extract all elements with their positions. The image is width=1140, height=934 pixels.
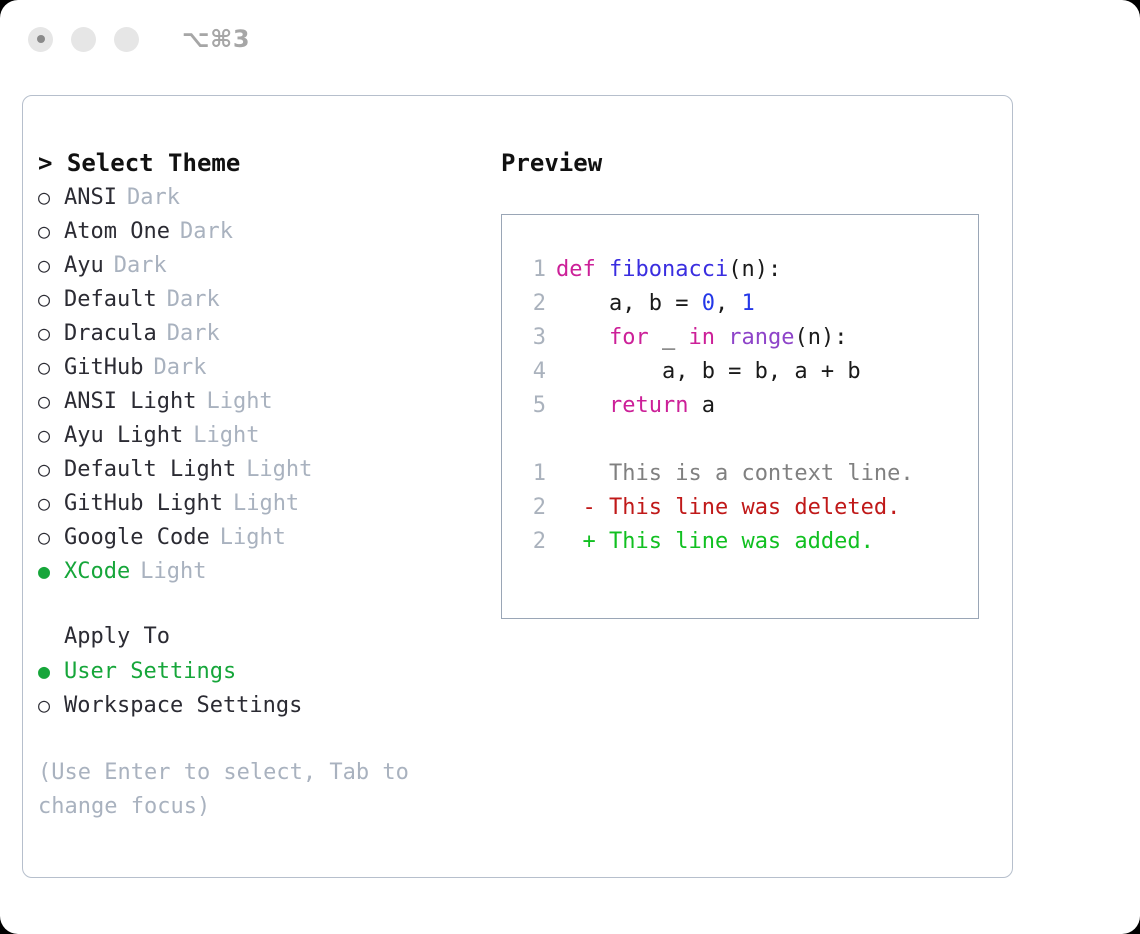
theme-list-item[interactable]: ○GitHub LightLight xyxy=(38,486,488,520)
theme-list-item[interactable]: ○DraculaDark xyxy=(38,316,488,350)
theme-list-item[interactable]: ○ANSI LightLight xyxy=(38,384,488,418)
theme-name: ANSI xyxy=(64,181,117,215)
theme-list-item[interactable]: ○AyuDark xyxy=(38,248,488,282)
theme-name: Ayu Light xyxy=(64,419,183,453)
code-token: for xyxy=(609,325,649,350)
diff-sample: 1 This is a context line.2 - This line w… xyxy=(518,457,978,559)
theme-kind-badge: Light xyxy=(140,555,206,589)
code-sample: 1def fibonacci(n):2 a, b = 0, 13 for _ i… xyxy=(518,253,978,423)
theme-kind-badge: Dark xyxy=(153,351,206,385)
theme-kind-badge: Dark xyxy=(167,283,220,317)
radio-unselected-icon: ○ xyxy=(38,282,64,316)
code-line: 2 a, b = 0, 1 xyxy=(518,287,978,321)
code-token xyxy=(715,325,728,350)
theme-kind-badge: Dark xyxy=(167,317,220,351)
line-number: 1 xyxy=(518,253,546,287)
code-token: 1 xyxy=(741,291,754,316)
window-control-maximize[interactable] xyxy=(114,27,139,52)
theme-name: Atom One xyxy=(64,215,170,249)
diff-sign: - xyxy=(556,495,596,520)
theme-list-item[interactable]: ○DefaultDark xyxy=(38,282,488,316)
code-token: in xyxy=(688,325,715,350)
apply-to-heading: Apply To xyxy=(38,620,488,654)
title-bar: ⌥⌘3 xyxy=(0,0,1140,78)
theme-name: Dracula xyxy=(64,317,157,351)
line-number: 2 xyxy=(518,491,546,525)
theme-name: Ayu xyxy=(64,249,104,283)
radio-unselected-icon: ○ xyxy=(38,214,64,248)
code-gap xyxy=(518,423,978,457)
theme-kind-badge: Dark xyxy=(114,249,167,283)
window-controls xyxy=(28,27,139,52)
keyboard-hint-text: (Use Enter to select, Tab to change focu… xyxy=(38,756,438,824)
theme-kind-badge: Light xyxy=(246,453,312,487)
keyboard-shortcut-label: ⌥⌘3 xyxy=(182,25,250,53)
code-token: (n): xyxy=(794,325,847,350)
theme-name: Default Light xyxy=(64,453,236,487)
theme-name: XCode xyxy=(64,555,130,589)
line-number: 5 xyxy=(518,389,546,423)
theme-list-item[interactable]: ○Ayu LightLight xyxy=(38,418,488,452)
apply-to-item[interactable]: ●User Settings xyxy=(38,654,488,688)
radio-selected-icon: ● xyxy=(38,554,64,588)
code-token xyxy=(556,393,609,418)
diff-text: This line was deleted. xyxy=(596,495,901,520)
diff-text: This line was added. xyxy=(596,529,874,554)
diff-text: This is a context line. xyxy=(596,461,914,486)
theme-list-item[interactable]: ○Default LightLight xyxy=(38,452,488,486)
code-token: def xyxy=(556,257,609,282)
code-token: a xyxy=(688,393,715,418)
code-token: _ xyxy=(649,325,689,350)
diff-sign: + xyxy=(556,529,596,554)
theme-kind-badge: Light xyxy=(193,419,259,453)
code-line: 4 a, b = b, a + b xyxy=(518,355,978,389)
theme-kind-badge: Light xyxy=(206,385,272,419)
diff-line: 1 This is a context line. xyxy=(518,457,978,491)
theme-name: GitHub Light xyxy=(64,487,223,521)
radio-unselected-icon: ○ xyxy=(38,248,64,282)
apply-to-label: User Settings xyxy=(64,655,236,689)
window-control-close[interactable] xyxy=(28,27,53,52)
preview-heading: Preview xyxy=(501,146,996,180)
theme-selector-column: > Select Theme ○ANSIDark○Atom OneDark○Ay… xyxy=(38,146,488,824)
radio-unselected-icon: ○ xyxy=(38,520,64,554)
line-number: 4 xyxy=(518,355,546,389)
radio-selected-icon: ● xyxy=(38,654,64,688)
theme-kind-badge: Dark xyxy=(180,215,233,249)
code-token: range xyxy=(728,325,794,350)
code-line: 5 return a xyxy=(518,389,978,423)
theme-name: ANSI Light xyxy=(64,385,196,419)
theme-preview-box: 1def fibonacci(n):2 a, b = 0, 13 for _ i… xyxy=(501,214,979,619)
theme-name: Google Code xyxy=(64,521,210,555)
theme-list-item[interactable]: ○GitHubDark xyxy=(38,350,488,384)
theme-list-item[interactable]: ○ANSIDark xyxy=(38,180,488,214)
code-token: a, b = b, a + b xyxy=(556,359,861,384)
code-token: a, b = xyxy=(556,291,702,316)
theme-list-item[interactable]: ●XCodeLight xyxy=(38,554,488,588)
code-token: 0 xyxy=(702,291,715,316)
code-token: fibonacci xyxy=(609,257,728,282)
line-number: 1 xyxy=(518,457,546,491)
line-number: 2 xyxy=(518,525,546,559)
theme-kind-badge: Light xyxy=(220,521,286,555)
radio-unselected-icon: ○ xyxy=(38,452,64,486)
line-number: 2 xyxy=(518,287,546,321)
radio-unselected-icon: ○ xyxy=(38,180,64,214)
line-number: 3 xyxy=(518,321,546,355)
app-window: ⌥⌘3 > Select Theme ○ANSIDark○Atom OneDar… xyxy=(0,0,1140,934)
theme-list-item[interactable]: ○Atom OneDark xyxy=(38,214,488,248)
window-control-minimize[interactable] xyxy=(71,27,96,52)
select-theme-heading: > Select Theme xyxy=(38,146,488,180)
code-token: return xyxy=(609,393,688,418)
radio-unselected-icon: ○ xyxy=(38,688,64,722)
main-panel: > Select Theme ○ANSIDark○Atom OneDark○Ay… xyxy=(22,95,1013,878)
theme-list[interactable]: ○ANSIDark○Atom OneDark○AyuDark○DefaultDa… xyxy=(38,180,488,588)
theme-kind-badge: Dark xyxy=(127,181,180,215)
code-token: (n): xyxy=(728,257,781,282)
diff-line: 2 - This line was deleted. xyxy=(518,491,978,525)
code-line: 3 for _ in range(n): xyxy=(518,321,978,355)
code-token xyxy=(556,325,609,350)
code-token: , xyxy=(715,291,742,316)
apply-to-label: Workspace Settings xyxy=(64,689,302,723)
apply-to-list[interactable]: ●User Settings○Workspace Settings xyxy=(38,654,488,722)
diff-sign xyxy=(556,461,596,486)
theme-list-item[interactable]: ○Google CodeLight xyxy=(38,520,488,554)
theme-name: GitHub xyxy=(64,351,143,385)
radio-unselected-icon: ○ xyxy=(38,486,64,520)
radio-unselected-icon: ○ xyxy=(38,384,64,418)
theme-name: Default xyxy=(64,283,157,317)
apply-to-item[interactable]: ○Workspace Settings xyxy=(38,688,488,722)
preview-column: Preview 1def fibonacci(n):2 a, b = 0, 13… xyxy=(501,146,996,619)
radio-unselected-icon: ○ xyxy=(38,418,64,452)
code-line: 1def fibonacci(n): xyxy=(518,253,978,287)
theme-kind-badge: Light xyxy=(233,487,299,521)
radio-unselected-icon: ○ xyxy=(38,350,64,384)
diff-line: 2 + This line was added. xyxy=(518,525,978,559)
radio-unselected-icon: ○ xyxy=(38,316,64,350)
